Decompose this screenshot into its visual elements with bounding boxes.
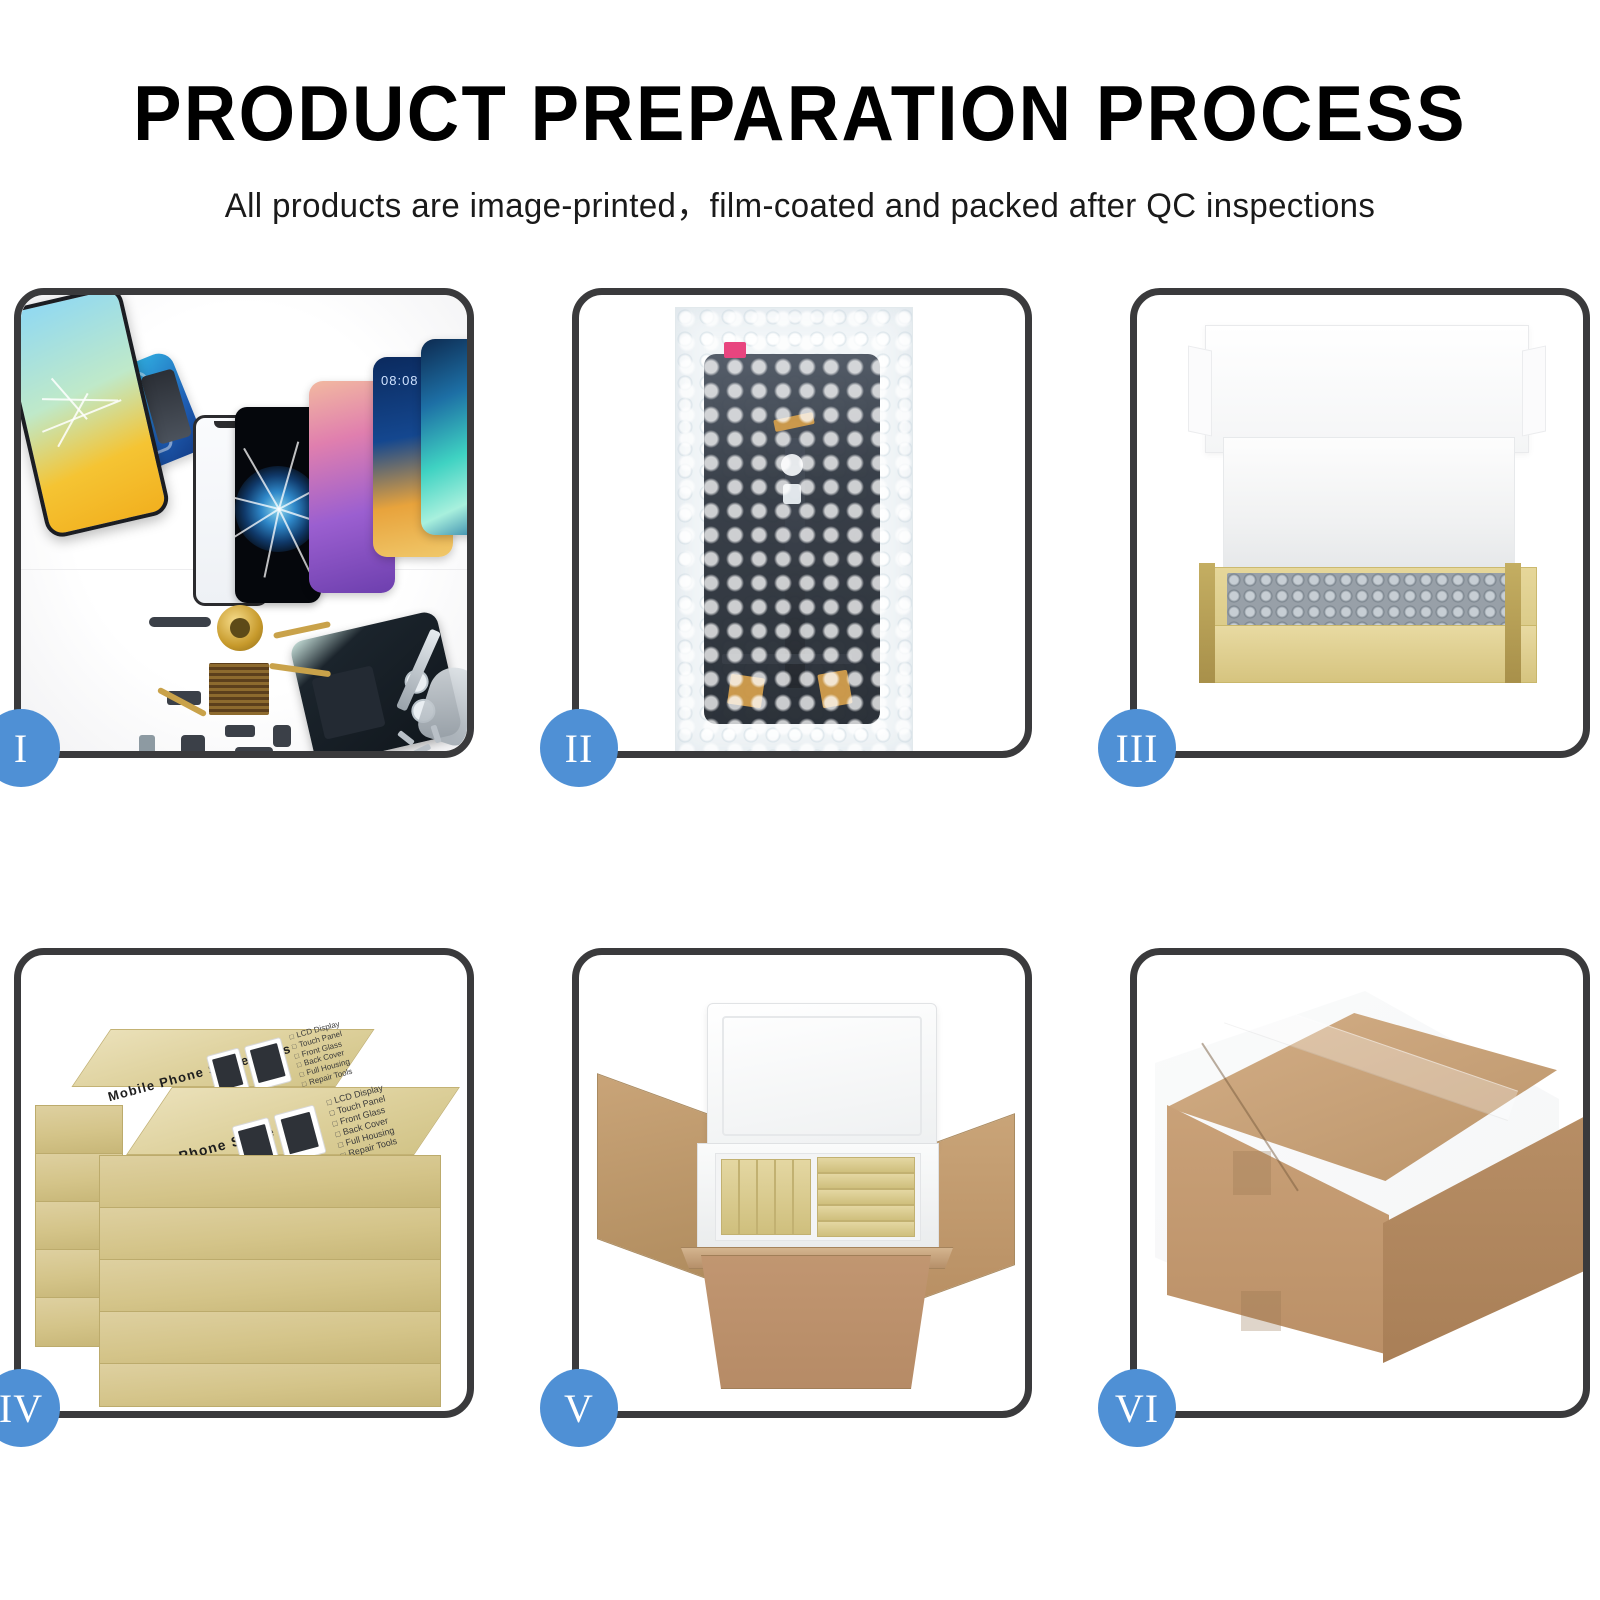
retail-box-in-foam: [817, 1189, 915, 1205]
sim-tray-icon: [139, 735, 155, 751]
foam-box-lid-icon: [707, 1003, 937, 1151]
carton-body: [691, 1255, 941, 1389]
ic-chip-icon: [209, 663, 269, 715]
step-panel-6: VI: [1130, 948, 1590, 1418]
mailer-box-right-lip: [1505, 563, 1521, 683]
process-steps-grid: 08:08: [14, 288, 1590, 1418]
step-6-image: [1137, 955, 1583, 1411]
retail-box: [35, 1105, 123, 1155]
step-panel-5: V: [572, 948, 1032, 1418]
page-subtitle: All products are image-printed，film-coat…: [24, 178, 1576, 227]
mailer-box-front-wall: [1199, 625, 1537, 683]
carton-label-patch: [1233, 1151, 1271, 1195]
retail-box-in-foam: [817, 1205, 915, 1221]
page-title: PRODUCT PREPARATION PROCESS: [56, 74, 1544, 152]
bubble-wrap-bag-icon: [675, 307, 913, 751]
page-header: PRODUCT PREPARATION PROCESS All products…: [0, 0, 1600, 227]
gold-connector: [774, 412, 816, 432]
lcd-bottom-bar: [722, 654, 852, 664]
crack-line: [42, 398, 118, 401]
wireless-charging-coil-icon: [217, 605, 263, 651]
step-badge-2: II: [540, 709, 618, 787]
step-panel-2: II: [572, 288, 1032, 758]
mailer-box-left-lip: [1199, 563, 1215, 683]
retail-box-in-foam: [757, 1159, 775, 1235]
battery-icon: [311, 665, 385, 739]
retail-box: [99, 1155, 441, 1209]
step-4-image: Mobile Phone Spare Parts LCD Display Tou…: [21, 955, 467, 1411]
retail-box-in-foam: [721, 1159, 739, 1235]
small-component: [225, 725, 255, 737]
grey-bubble-wrap-icon: [1227, 573, 1509, 633]
retail-box-in-foam: [793, 1159, 811, 1235]
step-panel-4: Mobile Phone Spare Parts LCD Display Tou…: [14, 948, 474, 1418]
small-component: [235, 747, 273, 751]
step-panel-1: 08:08: [14, 288, 474, 758]
step-2-image: [579, 295, 1025, 751]
phone-clock-text: 08:08: [381, 373, 419, 388]
step-5-image: [579, 955, 1025, 1411]
mailer-box-lid-icon: [1205, 325, 1529, 453]
foam-sheet-icon: [1223, 437, 1515, 579]
carton-label-patch: [1241, 1291, 1281, 1331]
step-badge-3: III: [1098, 709, 1176, 787]
small-component: [181, 735, 205, 751]
retail-box-in-foam: [817, 1173, 915, 1189]
gold-connector: [817, 670, 852, 709]
retail-box-in-foam: [817, 1157, 915, 1173]
step-badge-6: VI: [1098, 1369, 1176, 1447]
step-panel-3: III: [1130, 288, 1590, 758]
retail-box: [99, 1311, 441, 1365]
retail-box: [99, 1207, 441, 1261]
retail-box-in-foam: [817, 1221, 915, 1237]
earpiece-speaker-icon: [149, 617, 211, 627]
small-component: [273, 725, 291, 747]
qc-label-icon: [724, 342, 746, 358]
retail-box-in-foam: [739, 1159, 757, 1235]
retail-box-in-foam: [775, 1159, 793, 1235]
retail-box: [99, 1363, 441, 1407]
gold-connector: [727, 674, 765, 708]
step-3-image: [1137, 295, 1583, 751]
lcd-module-icon: [704, 354, 880, 724]
green-wave-phone-icon: [421, 339, 467, 535]
step-badge-5: V: [540, 1369, 618, 1447]
lcd-driver-ic: [783, 484, 801, 504]
retail-box: [99, 1259, 441, 1313]
step-1-image: 08:08: [21, 295, 467, 751]
